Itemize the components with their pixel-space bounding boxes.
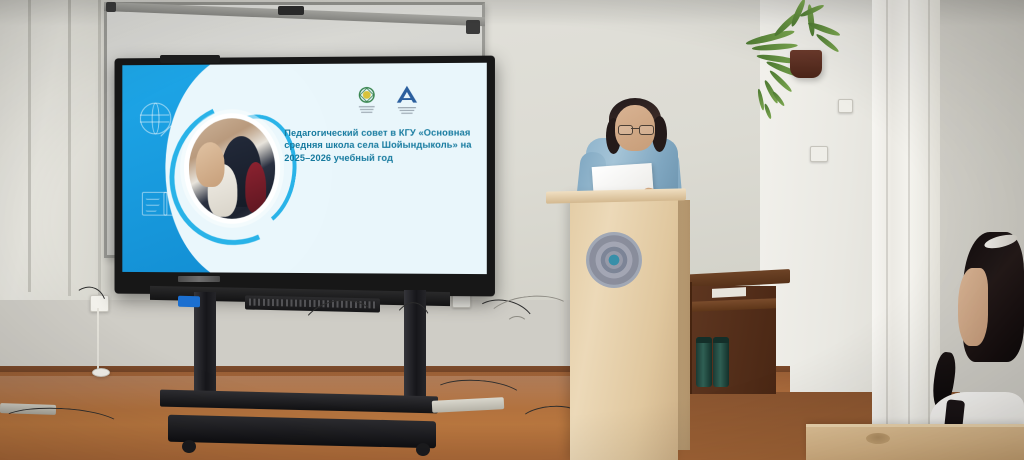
wall-socket	[838, 99, 853, 113]
curtain-fold	[908, 0, 910, 436]
eyeglasses-icon	[618, 125, 652, 133]
display-brand-logo	[178, 276, 220, 282]
attendee-face	[958, 268, 988, 346]
wall-switch	[810, 146, 828, 162]
plant-pot	[790, 50, 822, 78]
table-cable-grommet	[866, 433, 890, 444]
curtain-fold	[928, 0, 930, 436]
display-screen[interactable]: Педагогический совет в КГУ «Основная сре…	[122, 63, 486, 274]
wall-seam	[98, 0, 101, 300]
green-thermos	[696, 337, 712, 387]
caster-wheel	[182, 440, 196, 453]
podium	[570, 196, 678, 460]
presentation-slide: Педагогический совет в КГУ «Основная сре…	[122, 63, 486, 274]
left-wall-panel	[0, 0, 112, 300]
whiteboard-corner-bracket	[466, 20, 480, 34]
kazakhstan-state-emblem	[586, 232, 642, 288]
paper-on-desk	[712, 287, 746, 298]
whiteboard-clip	[278, 6, 304, 15]
caster-wheel	[416, 443, 430, 456]
kazakhstan-state-emblem-logo	[352, 82, 381, 116]
cable-coil	[506, 316, 528, 334]
classroom-presentation-scene: Педагогический совет в КГУ «Основная сре…	[0, 0, 1024, 460]
wall-seam	[28, 0, 31, 292]
wall-seam	[68, 0, 71, 296]
astana-bilim-triangle-logo	[390, 82, 423, 116]
whiteboard-corner-bracket	[106, 2, 116, 12]
display-camera-bar	[160, 55, 220, 63]
green-thermos	[713, 337, 729, 387]
slide-title: Педагогический совет в КГУ «Основная сре…	[284, 126, 475, 165]
interactive-display[interactable]: Педагогический совет в КГУ «Основная сре…	[115, 56, 495, 297]
slide-photo-schoolchildren	[189, 118, 276, 218]
foreground-table	[806, 424, 1024, 460]
stand-leg	[194, 292, 216, 400]
curtain-fold	[886, 0, 888, 436]
floor-junction-plate	[92, 368, 110, 377]
display-bezel: Педагогический совет в КГУ «Основная сре…	[122, 63, 486, 274]
stand-badge	[178, 296, 200, 307]
foreground-table-edge	[806, 424, 1024, 427]
